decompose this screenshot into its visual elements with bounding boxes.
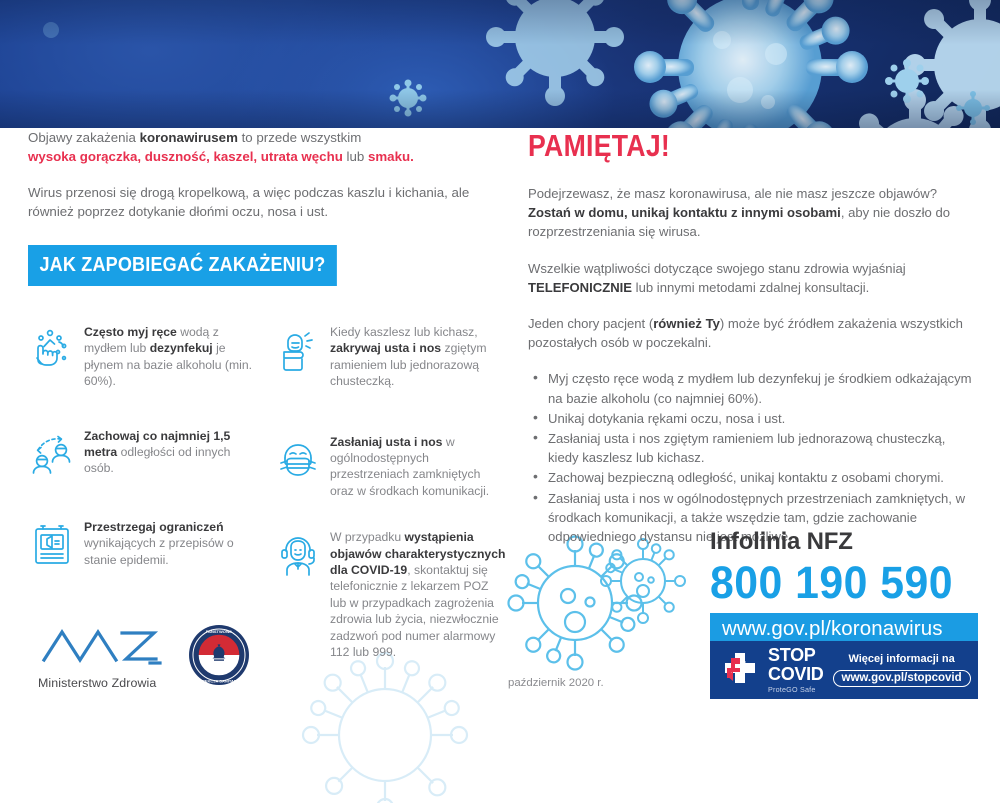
cough-into-elbow-icon [274,326,322,374]
header-vignette [0,0,1000,128]
tip-bold-2: dezynfekuj [150,341,213,355]
list-item: Zachowaj bezpieczną odległość, unikaj ko… [528,468,978,487]
stop-word: STOP [768,646,824,664]
tips-column-right: Kiedy kaszlesz lub kichasz, zakrywaj ust… [274,324,506,685]
ministry-of-health-logo: Ministerstwo Zdrowia [38,626,168,690]
p2-bold-telefonicznie: TELEFONICZNIE [528,280,632,295]
remember-heading: PAMIĘTAJ! [528,128,915,164]
p3-bold-rowniez-ty: również Ty [653,316,720,331]
washing-hands-icon [28,326,76,374]
nfz-phone-number: 800 190 590 [710,556,965,610]
protego-safe-label: ProteGO Safe [768,686,824,693]
tip-text: Często myj ręce wodą z mydłem lub dezynf… [84,324,260,390]
intro-text-a: Objawy zakażenia [28,130,140,145]
poster-body: Objawy zakażenia koronawirusem to przede… [0,128,1000,709]
tip-restrictions: Przestrzegaj ograniczeń wynikających z p… [28,519,260,568]
left-column: Objawy zakażenia koronawirusem to przede… [28,128,506,709]
tip-bold-2: zakrywaj usta i nos [330,341,441,355]
header-banner [0,0,1000,128]
tips-column-left: Często myj ręce wodą z mydłem lub dezynf… [28,324,260,592]
list-item: Zasłaniaj usta i nos zgiętym ramieniem l… [528,429,978,467]
tip-wash-hands: Często myj ręce wodą z mydłem lub dezynf… [28,324,260,390]
p2-c: lub innymi metodami zdalnej konsultacji. [632,280,869,295]
tip-text: W przypadku wystąpienia objawów charakte… [330,529,506,660]
symptoms-highlight-1: wysoka gorączka, duszność, kaszel, utr… [28,149,343,164]
sanitary-inspection-seal: PAŃSTWOWA INSPEKCJA SANITARNA [188,624,250,691]
tip-call-doctor: W przypadku wystąpienia objawów charakte… [274,529,506,660]
tip-rest-a: Kiedy kaszlesz lub kichasz, [330,325,478,339]
social-distance-icon [28,430,76,478]
tip-bold-lead: Przestrzegaj ograniczeń [84,520,224,534]
list-item: Myj często ręce wodą z mydłem lub dezynf… [528,369,978,407]
intro-paragraph-2: Wirus przenosi się drogą kropelkową, a w… [28,183,506,221]
call-doctor-headset-icon [274,531,322,579]
seal-top-text: PAŃSTWOWA [206,629,233,634]
stop-covid-badge[interactable]: STOP COVID ProteGO Safe Więcej informacj… [710,641,978,699]
prevention-heading-band: JAK ZAPOBIEGAĆ ZAKAŻENIU? [28,245,337,286]
seal-bottom-text: INSPEKCJA SANITARNA [195,678,242,683]
covid-word: COVID [768,665,824,683]
tip-face-mask: Zasłaniaj usta i nos w ogólnodostępnych … [274,434,506,500]
tip-rest-a: wynikających z przepisów o stanie epidem… [84,536,234,566]
remember-paragraph-3: Jeden chory pacjent (również Ty) może by… [528,314,978,352]
tip-rest-b: , skontaktuj się telefonicznie z lekarze… [330,563,499,659]
ministry-label: Ministerstwo Zdrowia [38,676,168,690]
restrictions-clipboard-icon [28,521,76,569]
p3-a: Jeden chory pacjent ( [528,316,653,331]
tip-social-distance: Zachowaj co najmniej 1,5 metra odległośc… [28,428,260,477]
remember-paragraph-2: Wszelkie wątpliwości dotyczące swojego s… [528,259,978,297]
tip-text: Przestrzegaj ograniczeń wynikających z p… [84,519,260,568]
remember-paragraph-1: Podejrzewasz, że masz koronawirusa, ale … [528,184,978,242]
symptoms-highlight-2: smaku. [368,149,414,164]
intro-lub: lub [343,149,368,164]
intro-paragraph-1: Objawy zakażenia koronawirusem to przede… [28,128,506,166]
stop-covid-info: Więcej informacji na www.gov.pl/stopcovi… [833,653,973,687]
nfz-hotline-block: Infolinia NFZ 800 190 590 www.gov.pl/kor… [710,528,978,647]
nfz-title: Infolinia NFZ [710,528,978,556]
stopcovid-url-pill[interactable]: www.gov.pl/stopcovid [833,670,971,687]
tip-text: Zasłaniaj usta i nos w ogólnodostępnych … [330,434,506,500]
p1-a: Podejrzewasz, że masz koronawirusa, ale … [528,186,937,201]
tip-bold-lead: Zasłaniaj usta i nos [330,435,442,449]
tip-cough-elbow: Kiedy kaszlesz lub kichasz, zakrywaj ust… [274,324,506,390]
p2-a: Wszelkie wątpliwości dotyczące swojego s… [528,261,906,276]
intro-text-c: to przede wszystkim [238,130,361,145]
p1-bold: Zostań w domu, unikaj kontaktu z innymi … [528,205,841,220]
keyword-koronawirusem: koronawirusem [140,130,238,145]
publication-date: październik 2020 r. [508,677,604,689]
more-info-label: Więcej informacji na [833,653,971,665]
tip-bold-lead: Często myj ręce [84,325,177,339]
stop-covid-wordmark: STOP COVID ProteGO Safe [768,646,824,693]
tip-text: Kiedy kaszlesz lub kichasz, zakrywaj ust… [330,324,506,390]
tip-rest-a: W przypadku [330,530,405,544]
tip-text: Zachowaj co najmniej 1,5 metra odległośc… [84,428,260,477]
footer-logos: Ministerstwo Zdrowia PAŃSTWOWA [38,624,250,691]
face-mask-icon [274,436,322,484]
list-item: Unikaj dotykania rękami oczu, nosa i ust… [528,409,978,428]
stop-covid-cross-arrow-icon [721,651,759,689]
prevention-bullet-list: Myj często ręce wodą z mydłem lub dezynf… [528,369,978,546]
